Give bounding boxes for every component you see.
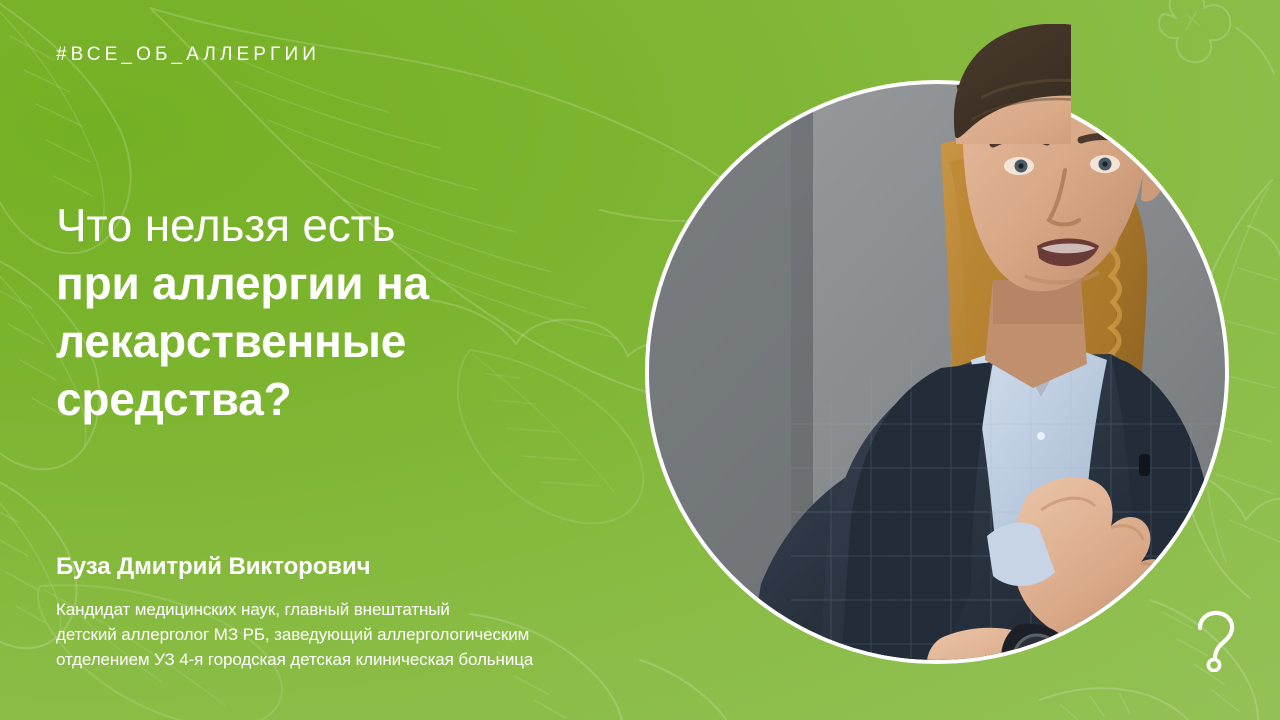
headline-line-2: при аллергии на: [56, 254, 429, 312]
hashtag-label: #ВСЕ_ОБ_АЛЛЕРГИИ: [56, 44, 320, 66]
portrait-photo: [641, 24, 1233, 720]
speaker-description-line-2: детский аллерголог МЗ РБ, заведующий алл…: [56, 622, 533, 647]
speaker-portrait: [641, 24, 1233, 720]
speaker-description-line-1: Кандидат медицинских наук, главный внешт…: [56, 597, 533, 622]
speaker-description-line-3: отделением УЗ 4-я городская детская клин…: [56, 647, 533, 672]
speaker-info: Буза Дмитрий Викторович Кандидат медицин…: [56, 551, 533, 672]
page-title: Что нельзя есть при аллергии на лекарств…: [56, 196, 429, 428]
speaker-description: Кандидат медицинских наук, главный внешт…: [56, 597, 533, 672]
headline-line-1: Что нельзя есть: [56, 196, 429, 254]
leaf-center-faint: [458, 350, 643, 523]
headline-line-4: средства?: [56, 370, 429, 428]
promo-slide: #ВСЕ_ОБ_АЛЛЕРГИИ Что нельзя есть при алл…: [0, 0, 1280, 720]
speaker-name: Буза Дмитрий Викторович: [56, 551, 533, 583]
question-mark-icon: [1192, 610, 1238, 672]
headline-line-3: лекарственные: [56, 312, 429, 370]
